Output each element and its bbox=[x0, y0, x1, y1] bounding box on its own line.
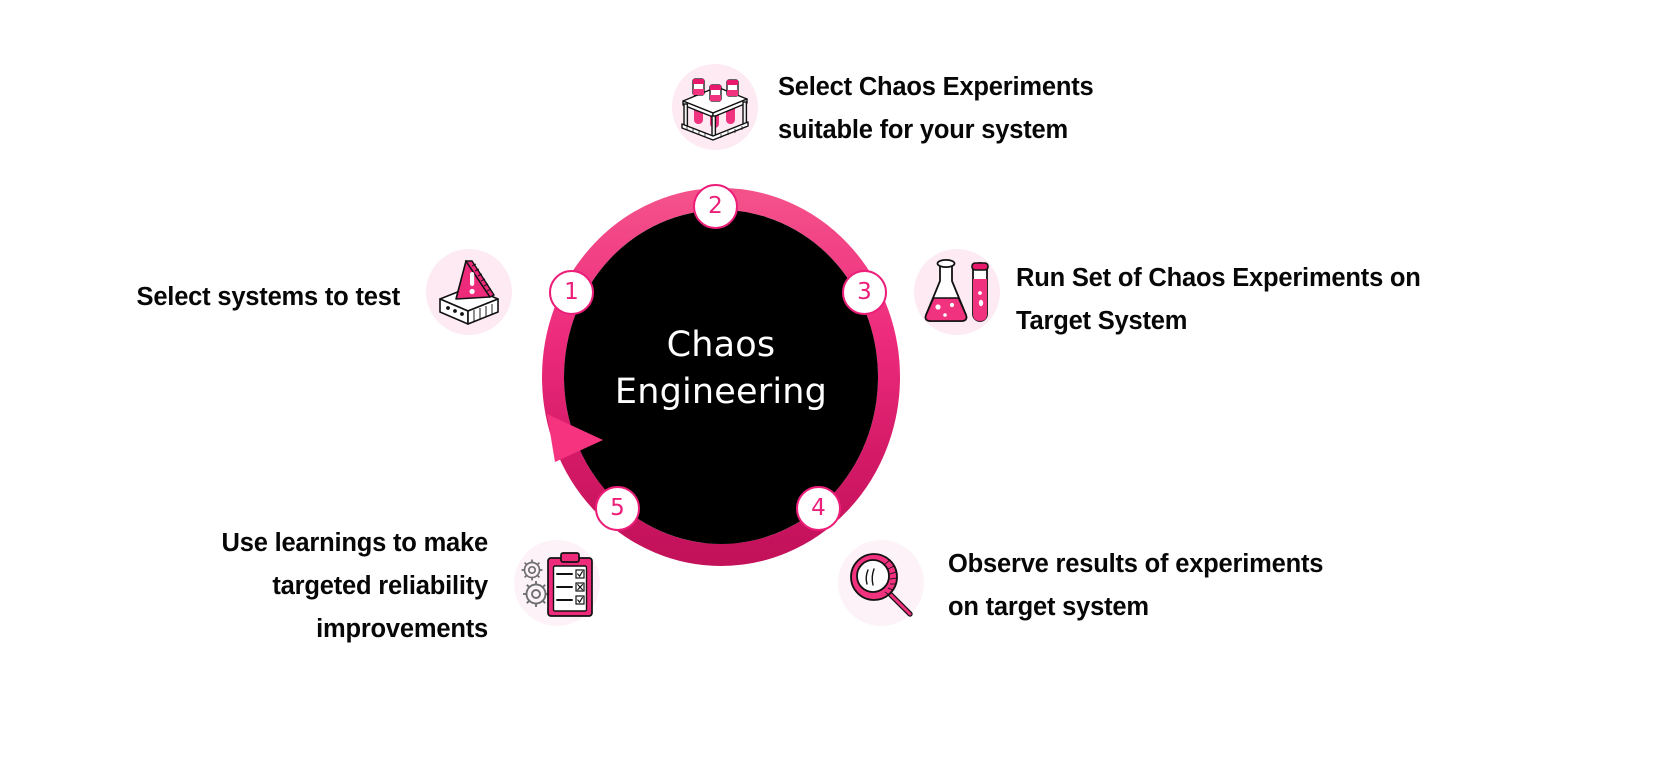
icon-bubble-step-4[interactable] bbox=[838, 540, 924, 626]
icon-bubble-step-3[interactable] bbox=[914, 249, 1000, 335]
chaos-engineering-diagram: Chaos Engineering 1 2 3 4 5 bbox=[0, 0, 1674, 765]
caption-step-2: Select Chaos Experiments suitable for yo… bbox=[778, 66, 1198, 152]
caption-step-4: Observe results of experiments on target… bbox=[948, 543, 1418, 629]
server-warning-icon bbox=[432, 255, 506, 329]
step-badge-2[interactable]: 2 bbox=[693, 184, 738, 229]
caption-step-5: Use learnings to make targeted reliabili… bbox=[140, 522, 488, 650]
step-number-4: 4 bbox=[811, 497, 826, 520]
step-number-3: 3 bbox=[857, 281, 872, 304]
caption-step-1: Select systems to test bbox=[60, 276, 400, 319]
icon-bubble-step-2[interactable] bbox=[672, 64, 758, 150]
clipboard-checklist-gears-icon bbox=[518, 546, 596, 620]
caption-step-3: Run Set of Chaos Experiments on Target S… bbox=[1016, 257, 1536, 343]
magnifying-glass-icon bbox=[844, 546, 918, 620]
step-number-1: 1 bbox=[564, 281, 579, 304]
icon-bubble-step-1[interactable] bbox=[426, 249, 512, 335]
icon-bubble-step-5[interactable] bbox=[514, 540, 600, 626]
step-badge-4[interactable]: 4 bbox=[796, 486, 841, 531]
flask-test-tube-icon bbox=[921, 257, 993, 327]
step-badge-3[interactable]: 3 bbox=[842, 270, 887, 315]
step-number-2: 2 bbox=[708, 195, 723, 218]
step-badge-5[interactable]: 5 bbox=[595, 486, 640, 531]
test-tube-rack-icon bbox=[677, 71, 753, 143]
step-number-5: 5 bbox=[610, 497, 625, 520]
step-badge-1[interactable]: 1 bbox=[549, 270, 594, 315]
